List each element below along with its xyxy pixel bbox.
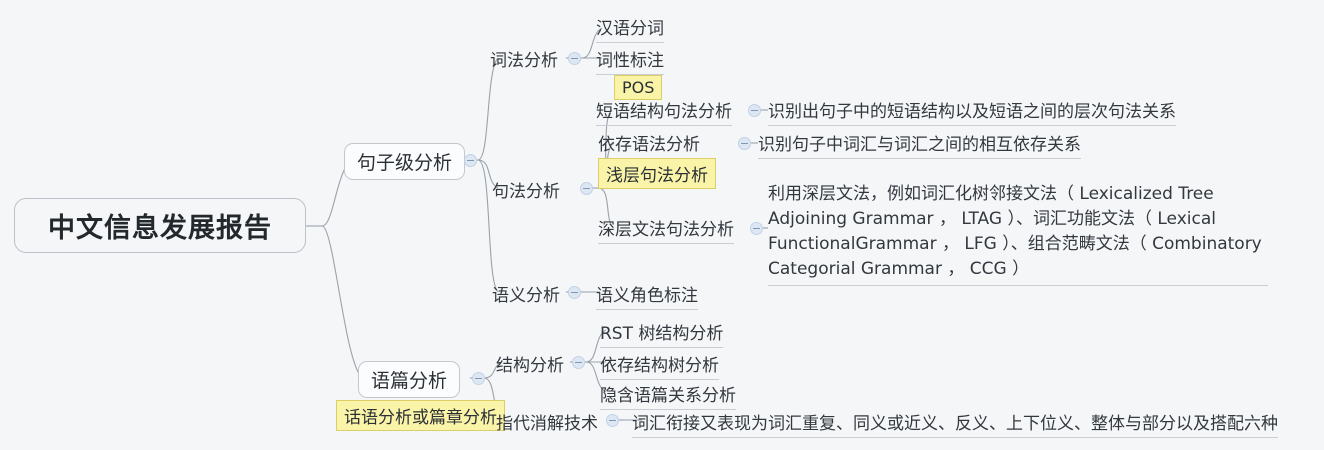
node-syntactic-analysis[interactable]: 句法分析 [492,177,560,205]
node-phrase-structure-parsing[interactable]: 短语结构句法分析 [596,97,732,126]
description-dependency-parsing: 识别句子中词汇与词汇之间的相互依存关系 [758,130,1081,159]
description-text: 识别出句子中的短语结构以及短语之间的层次句法关系 [768,102,1176,122]
description-phrase-structure-parsing: 识别出句子中的短语结构以及短语之间的层次句法关系 [768,97,1176,126]
node-structure-analysis[interactable]: 结构分析 [496,351,564,379]
node-label: 隐含语篇关系分析 [600,386,736,406]
branch-node-sentence-level[interactable]: 句子级分析 [344,143,465,180]
node-anaphora-resolution[interactable]: 指代消解技术 [496,409,598,437]
node-lexical-analysis[interactable]: 词法分析 [490,46,558,74]
note-label: POS [622,78,654,97]
collapse-toggle-lexical-analysis[interactable] [568,52,581,65]
root-node[interactable]: 中文信息发展报告 [14,198,306,253]
collapse-toggle-semantic-analysis[interactable] [568,286,581,299]
node-label: 指代消解技术 [496,414,598,434]
node-label: 语义分析 [492,286,560,306]
collapse-toggle-syntactic-analysis[interactable] [580,182,593,195]
node-label: 语义角色标注 [596,286,698,306]
note-label: 话语分析或篇章分析 [344,408,497,428]
node-semantic-role-labeling[interactable]: 语义角色标注 [596,281,698,310]
description-anaphora-resolution: 词汇衔接又表现为词汇重复、同义或近义、反义、上下位义、整体与部分以及搭配六种 [632,409,1278,438]
node-label: 词法分析 [490,51,558,71]
branch-label: 句子级分析 [357,148,452,175]
node-dependency-tree-analysis[interactable]: 依存结构树分析 [600,351,719,380]
description-text: 词汇衔接又表现为词汇重复、同义或近义、反义、上下位义、整体与部分以及搭配六种 [632,414,1278,434]
node-dependency-parsing[interactable]: 依存语法分析 [598,130,700,159]
node-rst-tree-analysis[interactable]: RST 树结构分析 [600,319,723,348]
node-shallow-parsing[interactable]: 浅层句法分析 [598,158,716,189]
note-discourse-analysis[interactable]: 话语分析或篇章分析 [336,400,505,431]
node-label: 浅层句法分析 [606,166,708,186]
collapse-toggle-phrase-structure-parsing[interactable] [748,104,761,117]
node-label: 依存结构树分析 [600,356,719,376]
node-label: 深层文法句法分析 [598,220,734,240]
description-text: 识别句子中词汇与词汇之间的相互依存关系 [758,135,1081,155]
node-label: RST 树结构分析 [600,324,723,344]
node-label: 汉语分词 [596,19,664,39]
node-implicit-discourse-relation-analysis[interactable]: 隐含语篇关系分析 [600,381,736,410]
node-label: 短语结构句法分析 [596,102,732,122]
node-pos-tagging[interactable]: 词性标注 [596,46,664,75]
node-semantic-analysis[interactable]: 语义分析 [492,281,560,309]
node-label: 词性标注 [596,51,664,71]
collapse-toggle-dependency-parsing[interactable] [738,137,751,150]
branch-label: 语篇分析 [371,366,447,393]
collapse-toggle-discourse-analysis[interactable] [472,372,485,385]
collapse-toggle-structure-analysis[interactable] [572,356,585,369]
mindmap-canvas: 中文信息发展报告 句子级分析 词法分析 汉语分词 词性标注 POS 句法分析 短… [0,0,1324,450]
node-label: 结构分析 [496,356,564,376]
branch-node-discourse-analysis[interactable]: 语篇分析 [358,361,460,398]
collapse-toggle-sentence-level[interactable] [464,154,477,167]
root-label: 中文信息发展报告 [48,206,272,245]
collapse-toggle-anaphora-resolution[interactable] [606,414,619,427]
node-chinese-word-segmentation[interactable]: 汉语分词 [596,14,664,43]
node-label: 句法分析 [492,182,560,202]
node-label: 依存语法分析 [598,135,700,155]
description-deep-grammar-parsing: 利用深层文法，例如词汇化树邻接文法（ Lexicalized Tree Adjo… [768,182,1268,286]
node-deep-grammar-parsing[interactable]: 深层文法句法分析 [598,215,734,244]
collapse-toggle-deep-grammar-parsing[interactable] [750,222,763,235]
description-text: 利用深层文法，例如词汇化树邻接文法（ Lexicalized Tree Adjo… [768,184,1262,279]
